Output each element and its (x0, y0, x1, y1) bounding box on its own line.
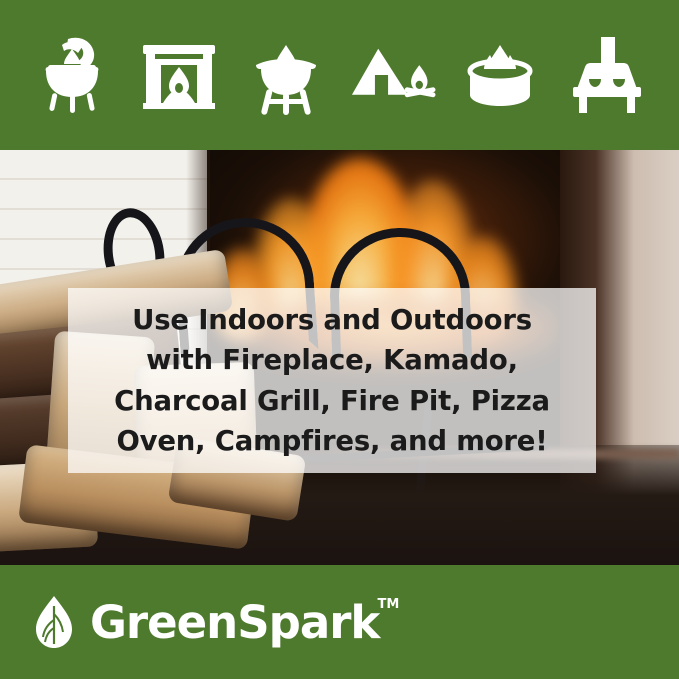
headline-panel: Use Indoors and Outdoors with Fireplace,… (68, 288, 596, 473)
brand-band: GreenSpark TM (0, 565, 679, 679)
product-infographic: Use Indoors and Outdoors with Fireplace,… (0, 0, 679, 679)
brand-name-text: GreenSpark (90, 596, 379, 649)
headline-line-2: with Fireplace, Kamado, (146, 340, 518, 380)
pizza-oven-icon (561, 29, 653, 121)
brand-logo: GreenSpark TM (32, 594, 379, 650)
headline-line-1: Use Indoors and Outdoors (132, 300, 532, 340)
fireplace-icon (133, 29, 225, 121)
headline-line-4: Oven, Campfires, and more! (116, 421, 547, 461)
use-case-icon-band (0, 0, 679, 150)
trademark-symbol: TM (378, 598, 400, 611)
kamado-grill-icon (26, 29, 118, 121)
charcoal-grill-icon (240, 29, 332, 121)
brand-wordmark: GreenSpark TM (90, 600, 379, 645)
flame-leaf-logo-icon (32, 594, 76, 650)
tent-campfire-icon (347, 29, 439, 121)
headline-line-3: Charcoal Grill, Fire Pit, Pizza (114, 381, 550, 421)
fire-pit-icon (454, 29, 546, 121)
